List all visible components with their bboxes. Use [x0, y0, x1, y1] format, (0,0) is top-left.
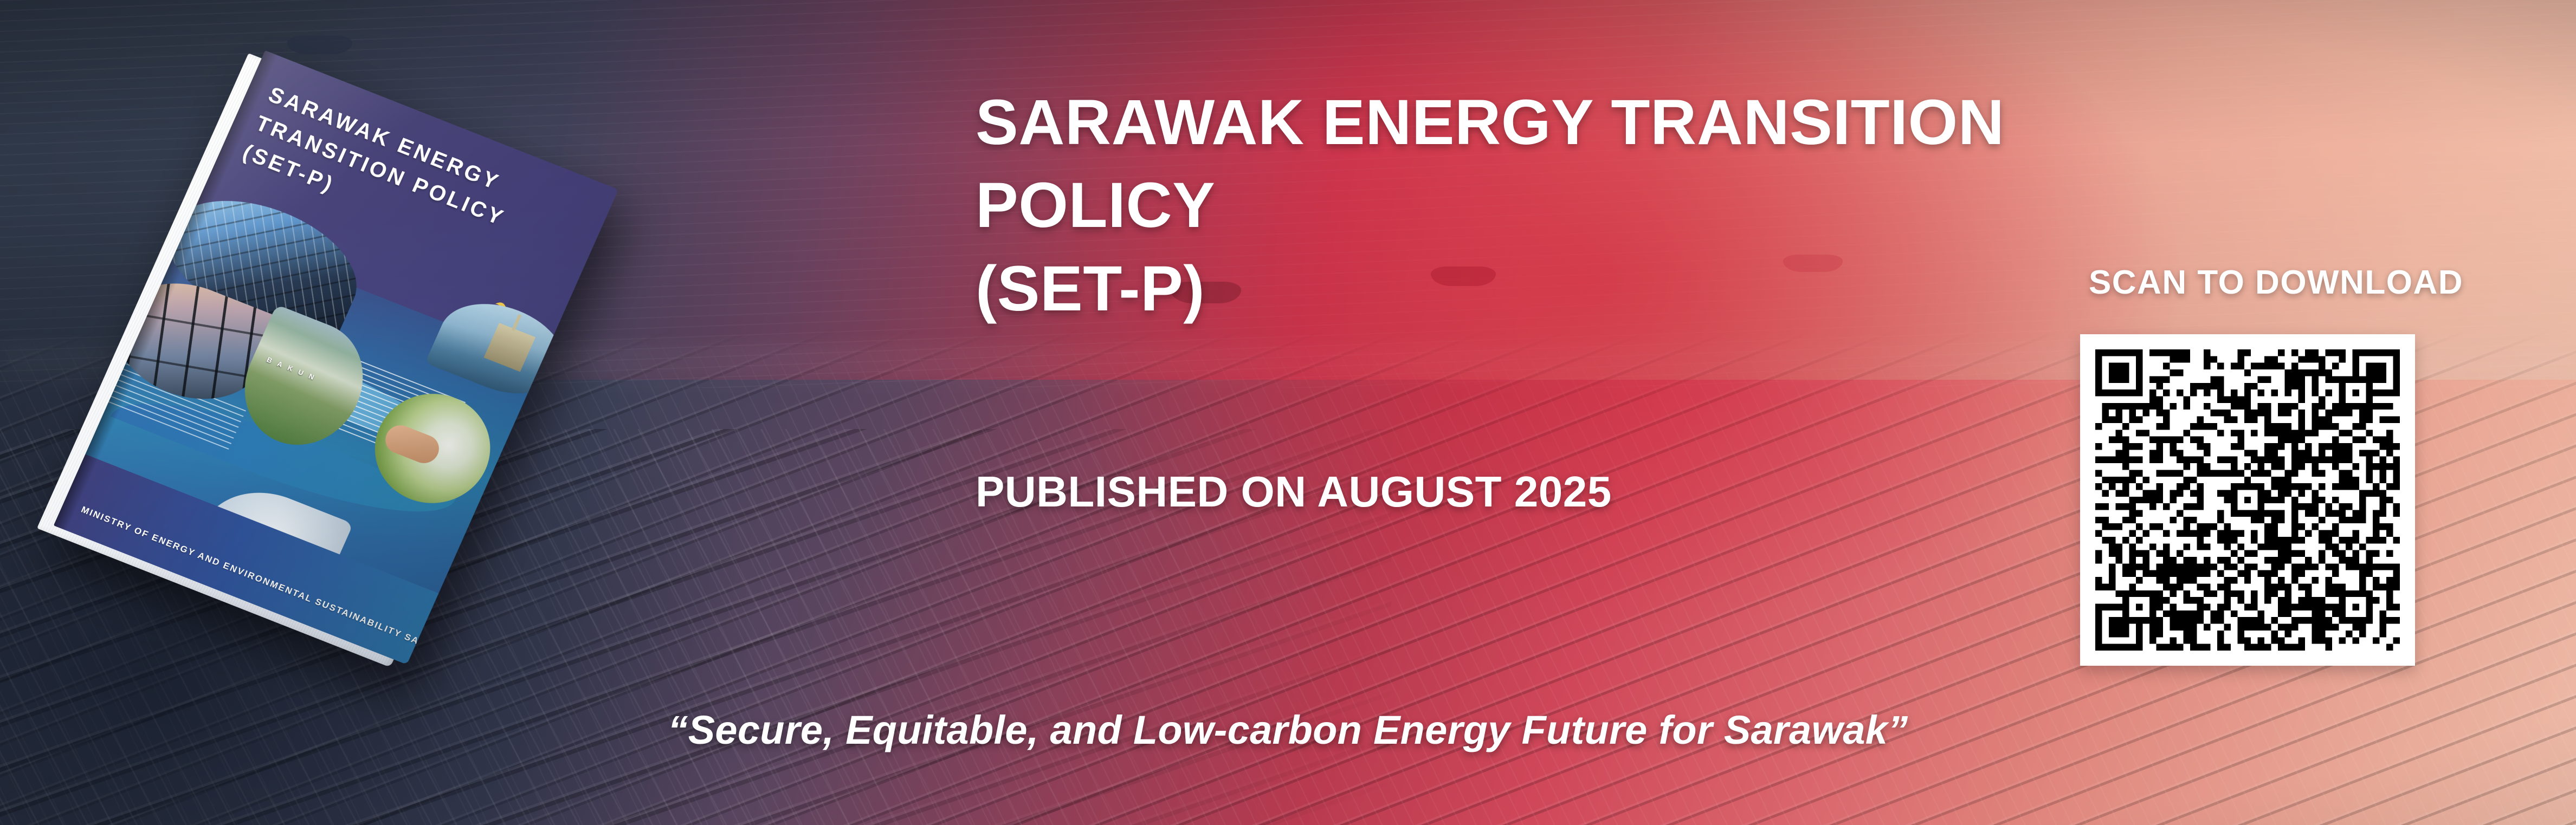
qr-code-image[interactable]	[2095, 349, 2400, 651]
banner-headline: SARAWAK ENERGY TRANSITION POLICY (SET-P)	[976, 81, 2059, 330]
charging-hand-shape	[381, 421, 443, 467]
scan-to-download-label: SCAN TO DOWNLOAD	[2089, 263, 2463, 302]
oil-rig-shape	[484, 323, 535, 372]
banner-tagline: “Secure, Equitable, and Low-carbon Energ…	[0, 707, 2576, 753]
book-3d: SARAWAK ENERGY TRANSITION POLICY (SET-P)	[54, 50, 618, 665]
qr-code-card[interactable]	[2080, 334, 2415, 666]
book-cover: SARAWAK ENERGY TRANSITION POLICY (SET-P)	[54, 50, 618, 665]
bakun-dam-label: B A K U N	[266, 356, 318, 382]
banner-root: SARAWAK ENERGY TRANSITION POLICY (SET-P)	[0, 0, 2576, 825]
published-date: PUBLISHED ON AUGUST 2025	[976, 467, 1612, 517]
headline-line-1: SARAWAK ENERGY TRANSITION POLICY	[976, 81, 2059, 248]
headline-line-2: (SET-P)	[976, 248, 2059, 330]
book-mockup: SARAWAK ENERGY TRANSITION POLICY (SET-P)	[33, 65, 845, 704]
